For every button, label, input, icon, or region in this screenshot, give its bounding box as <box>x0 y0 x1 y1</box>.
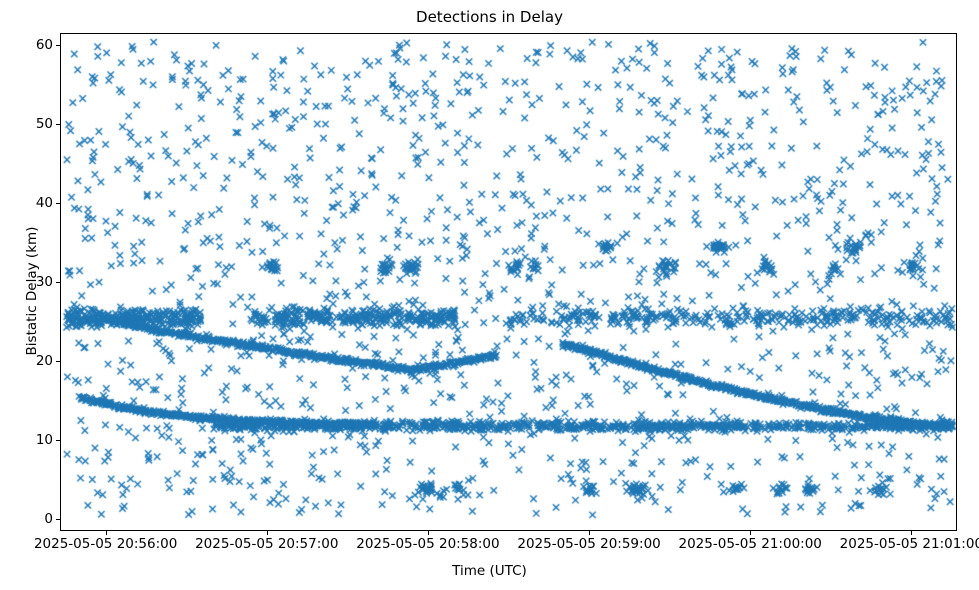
x-axis-label: Time (UTC) <box>0 563 979 579</box>
x-tick-label: 2025-05-05 20:59:00 <box>517 536 660 552</box>
x-tick-label: 2025-05-05 20:57:00 <box>195 536 338 552</box>
x-tick-mark <box>267 531 268 535</box>
scatter-plot <box>61 34 958 532</box>
x-axis-tick-labels: 2025-05-05 20:56:002025-05-05 20:57:0020… <box>0 536 979 558</box>
x-tick-mark <box>750 531 751 535</box>
y-tick-label: 50 <box>36 116 53 132</box>
x-tick-label: 2025-05-05 20:56:00 <box>34 536 177 552</box>
x-tick-mark <box>428 531 429 535</box>
x-tick-label: 2025-05-05 21:00:00 <box>679 536 822 552</box>
figure-canvas: Detections in Delay Bistatic Delay (km) … <box>0 0 979 590</box>
y-tick-label: 30 <box>36 274 53 290</box>
y-tick-label: 60 <box>36 37 53 53</box>
x-tick-label: 2025-05-05 20:58:00 <box>356 536 499 552</box>
x-tick-mark <box>106 531 107 535</box>
y-tick-label: 40 <box>36 195 53 211</box>
y-tick-label: 10 <box>36 432 53 448</box>
x-tick-mark <box>589 531 590 535</box>
y-tick-label: 0 <box>44 511 53 527</box>
y-tick-label: 20 <box>36 353 53 369</box>
page-title: Detections in Delay <box>0 8 979 26</box>
y-axis-tick-labels: 0102030405060 <box>0 33 53 531</box>
plot-area <box>60 33 957 531</box>
x-tick-label: 2025-05-05 21:01:00 <box>840 536 979 552</box>
x-tick-mark <box>911 531 912 535</box>
